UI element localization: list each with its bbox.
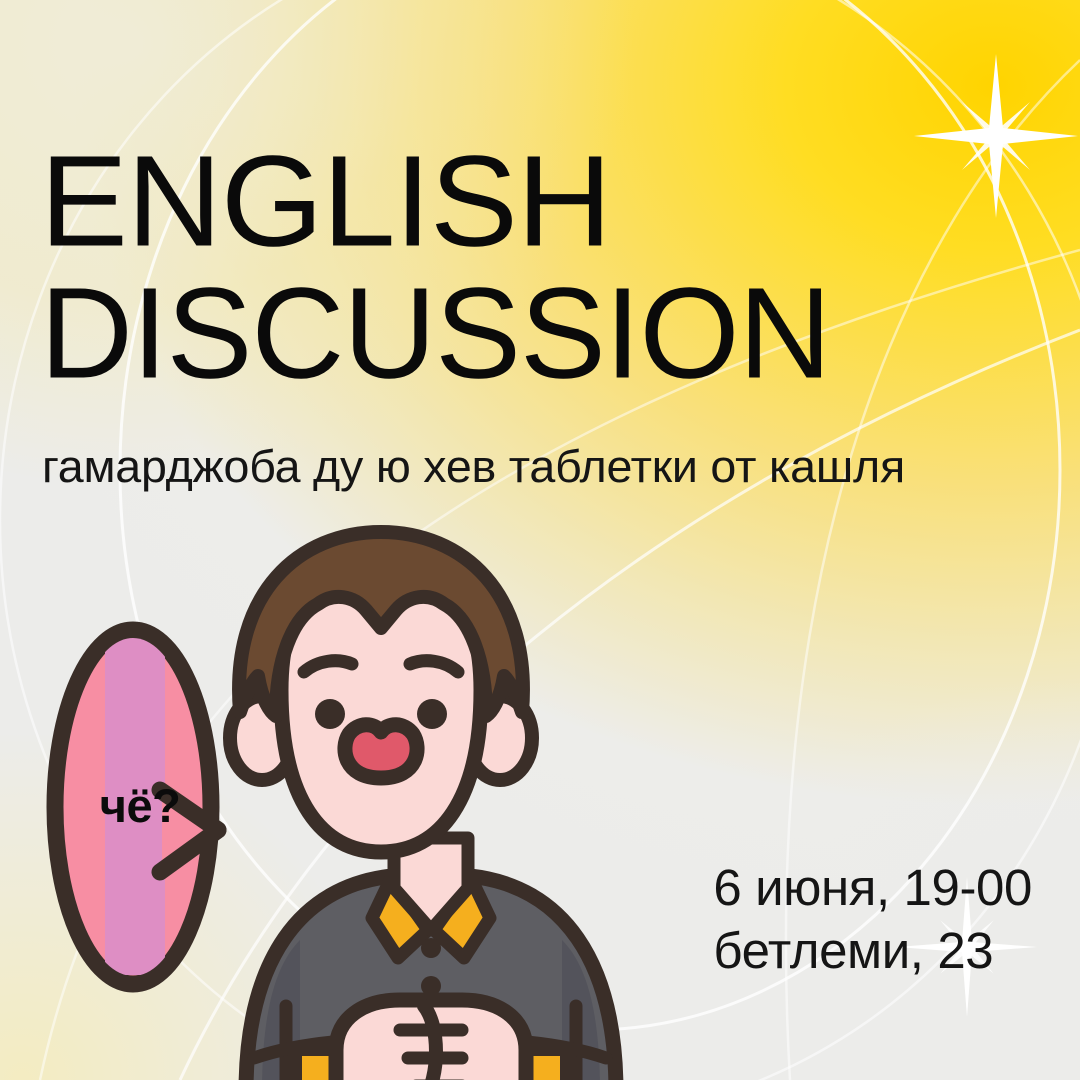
- poster-canvas: ENGLISH DISCUSSION гамарджоба ду ю хев т…: [0, 0, 1080, 1080]
- headline-block: ENGLISH DISCUSSION: [40, 142, 1040, 392]
- poster-title-line-2: DISCUSSION: [40, 270, 1080, 395]
- poster-subtitle: гамарджоба ду ю хев таблетки от кашля: [42, 440, 905, 494]
- event-details: 6 июня, 19-00 бетлеми, 23: [713, 856, 1032, 982]
- event-address: бетлеми, 23: [713, 919, 1032, 982]
- poster-title-line-1: ENGLISH: [40, 138, 1080, 263]
- event-date-time: 6 июня, 19-00: [713, 856, 1032, 919]
- speech-bubble-text: чё?: [60, 778, 220, 833]
